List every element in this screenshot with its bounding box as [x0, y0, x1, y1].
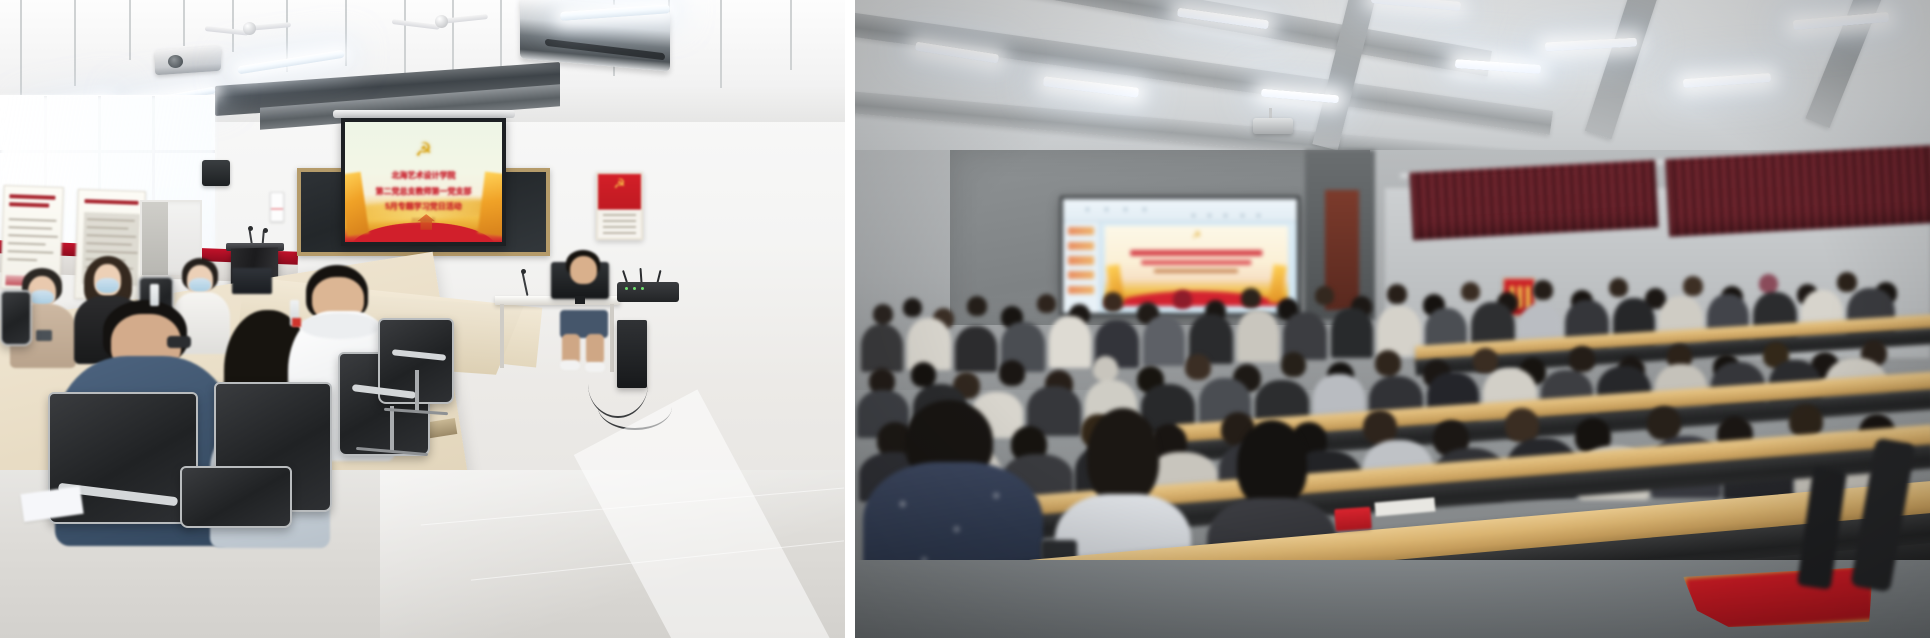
ceiling-projector	[1253, 118, 1293, 134]
hanger-rod	[129, 0, 131, 60]
slide-title-bar-2	[1142, 260, 1252, 265]
ceiling-projector	[155, 46, 221, 76]
slide-title-line-2: 第二党总支教师第一党支部	[376, 186, 472, 197]
slide-title-bar-1	[1131, 250, 1262, 256]
projection-screen: ☭ 北海艺术设计学院 第二党总支教师第一党支部 5月专题学习党日活动 2022年…	[341, 118, 506, 246]
shoe	[585, 362, 605, 372]
shoe	[560, 360, 580, 370]
hoodie-hood	[300, 313, 380, 339]
projector-lens-icon	[168, 55, 183, 68]
photo-pair-figure: 5月 ☭ 北海艺术设计学院 第二党总支教师第一党支部 5月专题学习党日活动 20…	[0, 0, 1930, 638]
party-emblem-icon: ☭	[411, 141, 437, 161]
chair-post	[415, 370, 419, 412]
network-router	[617, 282, 679, 302]
water-bottle	[150, 284, 159, 306]
slide-thumbnail[interactable]	[1068, 227, 1094, 235]
powerpoint-toolbar[interactable]	[1063, 199, 1297, 222]
microphone-head-icon	[263, 228, 268, 233]
microphone-head-icon	[248, 226, 253, 231]
hanger-rod	[20, 0, 22, 96]
left-photo-small-meeting-room: 5月 ☭ 北海艺术设计学院 第二党总支教师第一党支部 5月专题学习党日活动 20…	[0, 0, 845, 638]
laptop	[232, 268, 272, 294]
window-curtain	[1409, 160, 1658, 241]
hanger-rod	[74, 0, 76, 86]
red-notice-board: ☭	[596, 172, 643, 240]
window-curtain	[1665, 145, 1930, 237]
microphone-head-icon	[521, 269, 526, 274]
party-emblem-icon: ☭	[614, 177, 626, 190]
slide-flag-right-graphic	[478, 171, 502, 236]
hanger-rod	[183, 0, 185, 46]
ceiling-fan	[205, 20, 291, 36]
projected-slide: ☭ 北海艺术设计学院 第二党总支教师第一党支部 5月专题学习党日活动 2022年…	[345, 122, 502, 242]
ceiling-fan	[392, 12, 488, 30]
seated-person	[552, 250, 614, 368]
screen-roller-housing	[333, 110, 515, 118]
party-emblem-icon: ☭	[1192, 231, 1201, 241]
wall-speaker	[202, 160, 230, 186]
mobile-phone	[36, 330, 52, 341]
slide-title-line-1: 北海艺术设计学院	[392, 170, 456, 181]
figure-gutter	[845, 0, 855, 638]
eyeglasses	[167, 336, 191, 348]
office-chair[interactable]	[0, 290, 32, 346]
chair-post	[390, 406, 394, 452]
hanger-rod	[790, 0, 792, 70]
hanger-rod	[720, 0, 722, 88]
slide-subtitle: 2022年5月	[412, 217, 436, 224]
right-photo-large-lecture-hall: ☭	[855, 0, 1930, 638]
slide-thumbnail[interactable]	[1068, 256, 1094, 264]
wall-notice-sign	[270, 192, 284, 222]
office-chair[interactable]	[180, 466, 292, 528]
slide-thumbnail[interactable]	[1068, 242, 1094, 250]
hanger-rod	[345, 0, 347, 66]
red-desk-item	[1334, 507, 1371, 531]
slide-title-line-3: 5月专题学习党日活动	[385, 201, 461, 212]
bottle-label	[292, 318, 301, 327]
table-leg	[500, 304, 504, 368]
